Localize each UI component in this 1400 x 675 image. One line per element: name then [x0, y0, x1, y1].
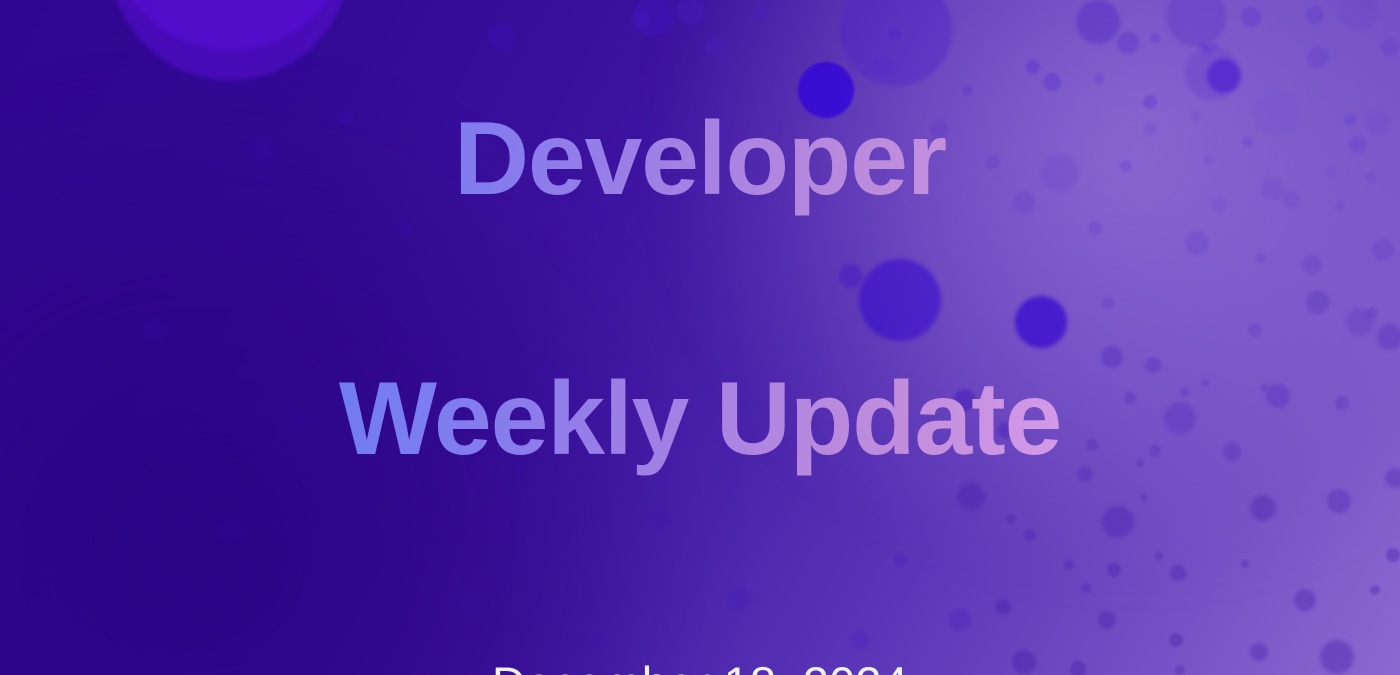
slide-subtitle-date: December 18, 2024 [492, 656, 908, 675]
slide-content: Developer Weekly Update December 18, 202… [0, 0, 1400, 675]
title-line-2: Weekly Update [339, 354, 1061, 484]
page-title: Developer Weekly Update [339, 0, 1061, 614]
title-slide: Developer Weekly Update December 18, 202… [0, 0, 1400, 675]
title-line-1: Developer [339, 94, 1061, 224]
